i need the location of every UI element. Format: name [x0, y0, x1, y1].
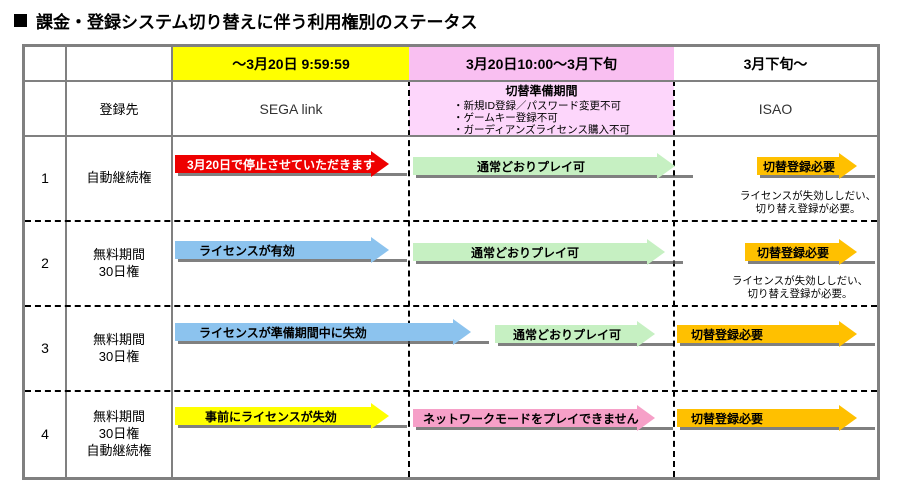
arrow-label: 通常どおりプレイ可 — [413, 157, 657, 175]
arrow-head — [647, 239, 665, 265]
note-line: 切り替え登録が必要。 — [725, 288, 875, 301]
sub-cell-isao-text: ISAO — [759, 101, 792, 117]
arrow-label: ライセンスが準備期間中に失効 — [175, 323, 453, 341]
arrow-row4-period2: ネットワークモードをプレイできません — [413, 405, 675, 431]
arrow-head — [839, 321, 857, 347]
row-label-line: 自動継続権 — [86, 169, 151, 186]
arrow-row3-period2: 通常どおりプレイ可 — [495, 321, 675, 347]
sub-cell-sega-link-text: SEGA link — [259, 101, 322, 117]
arrow-label: 通常どおりプレイ可 — [413, 243, 647, 261]
arrow-label: 切替登録必要 — [677, 325, 839, 343]
arrow-head — [657, 153, 675, 179]
arrow-row2-period3: 切替登録必要 — [745, 239, 877, 265]
prep-period-restrictions: ・新規ID登録／パスワード変更不可 ・ゲームキー登録不可 ・ガーディアンズライセ… — [453, 100, 630, 136]
arrow-label: ライセンスが有効 — [175, 241, 371, 259]
arrow-label: 切替登録必要 — [757, 157, 839, 175]
table-row-label: 無料期間 30日権 — [65, 220, 173, 305]
arrow-row4-period3: 切替登録必要 — [677, 405, 877, 431]
arrow-head — [637, 405, 655, 431]
registration-target-label: 登録先 — [65, 82, 173, 135]
arrow-label: 切替登録必要 — [677, 409, 839, 427]
arrow-row1-period3: 切替登録必要 — [757, 153, 877, 179]
table-row-number: 1 — [25, 135, 65, 220]
sub-cell-prep-period: 切替準備期間 ・新規ID登録／パスワード変更不可 ・ゲームキー登録不可 ・ガーデ… — [409, 82, 674, 135]
note-row1: ライセンスが失効ししだい、 切り替え登録が必要。 — [733, 190, 883, 216]
arrow-row4-period1: 事前にライセンスが失効 — [175, 403, 409, 429]
arrow-row1-period2: 通常どおりプレイ可 — [413, 153, 695, 179]
table-row-number: 3 — [25, 305, 65, 390]
arrow-row3-period3: 切替登録必要 — [677, 321, 877, 347]
arrow-label: ネットワークモードをプレイできません — [413, 409, 637, 427]
row-number-text: 4 — [41, 426, 49, 442]
period-header-2-label: 3月20日10:00～3月下旬 — [466, 54, 617, 74]
arrow-head — [371, 237, 389, 263]
row-label-line: 30日権 — [99, 263, 139, 280]
table-row-label: 無料期間 30日権 — [65, 305, 173, 390]
prep-restriction-item: ・ゲームキー登録不可 — [453, 112, 630, 124]
note-line: ライセンスが失効ししだい、 — [725, 275, 875, 288]
page-title: 課金・登録システム切り替えに伴う利用権別のステータス — [14, 8, 478, 33]
prep-period-title: 切替準備期間 — [505, 82, 577, 99]
arrow-row3-period1: ライセンスが準備期間中に失効 — [175, 319, 491, 345]
arrow-row2-period2: 通常どおりプレイ可 — [413, 239, 685, 265]
arrow-shadow — [416, 427, 673, 430]
arrow-head — [839, 239, 857, 265]
row-number-text: 1 — [41, 170, 49, 186]
status-table: ～3月20日 9:59:59 3月20日10:00～3月下旬 3月下旬～ 登録先… — [22, 44, 880, 480]
row-label-line: 無料期間 — [93, 246, 145, 263]
note-line: ライセンスが失効ししだい、 — [733, 190, 883, 203]
arrow-row1-period1: 3月20日で停止させていただきます — [175, 151, 409, 177]
arrow-row2-period1: ライセンスが有効 — [175, 237, 409, 263]
table-row-number: 2 — [25, 220, 65, 305]
prep-restriction-item: ・ガーディアンズライセンス購入不可 — [453, 124, 630, 136]
arrow-label: 3月20日で停止させていただきます — [175, 155, 371, 173]
arrow-head — [637, 321, 655, 347]
sub-cell-sega-link: SEGA link — [173, 82, 409, 135]
arrow-shadow — [416, 175, 693, 178]
arrow-shadow — [178, 341, 489, 344]
period-header-3-label: 3月下旬～ — [744, 54, 808, 74]
arrow-shadow — [416, 261, 683, 264]
page-title-text: 課金・登録システム切り替えに伴う利用権別のステータス — [36, 8, 478, 33]
row-label-line: 無料期間 — [93, 331, 145, 348]
period-header-1: ～3月20日 9:59:59 — [173, 47, 409, 80]
arrow-head — [371, 403, 389, 429]
table-row-label: 無料期間 30日権 自動継続権 — [65, 390, 173, 477]
row-label-line: 30日権 — [99, 348, 139, 365]
row-label-line: 自動継続権 — [86, 442, 151, 459]
black-square-bullet-icon — [14, 14, 27, 27]
arrow-label: 通常どおりプレイ可 — [495, 325, 637, 343]
row-label-line: 30日権 — [99, 425, 139, 442]
arrow-head — [839, 153, 857, 179]
row-label-line: 無料期間 — [93, 408, 145, 425]
period-header-2: 3月20日10:00～3月下旬 — [409, 47, 674, 80]
registration-target-label-text: 登録先 — [99, 99, 138, 118]
row-number-text: 3 — [41, 340, 49, 356]
arrow-shadow — [760, 175, 875, 178]
note-row2: ライセンスが失効ししだい、 切り替え登録が必要。 — [725, 275, 875, 301]
arrow-label: 事前にライセンスが失効 — [175, 407, 371, 425]
table-row-label: 自動継続権 — [65, 135, 173, 220]
arrow-head — [453, 319, 471, 345]
period-header-3: 3月下旬～ — [674, 47, 877, 80]
table-row-number: 4 — [25, 390, 65, 477]
arrow-label: 切替登録必要 — [745, 243, 839, 261]
header-divider-top — [25, 80, 877, 82]
period-header-1-label: ～3月20日 9:59:59 — [232, 54, 350, 74]
sub-cell-isao: ISAO — [674, 82, 877, 135]
note-line: 切り替え登録が必要。 — [733, 203, 883, 216]
arrow-head — [839, 405, 857, 431]
row-number-text: 2 — [41, 255, 49, 271]
prep-restriction-item: ・新規ID登録／パスワード変更不可 — [453, 100, 630, 112]
